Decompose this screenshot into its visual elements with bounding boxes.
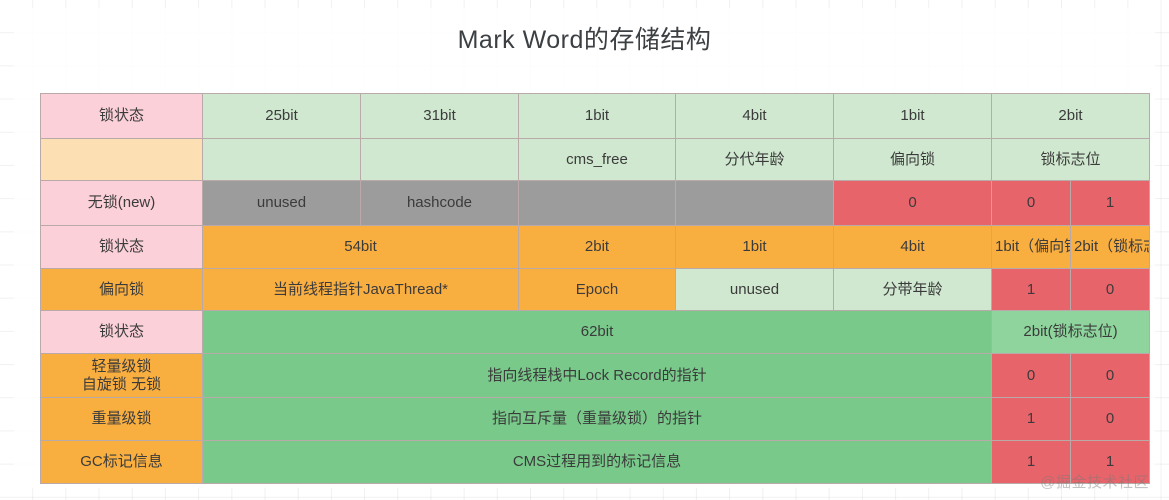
cell-lock-bit-0-3: 0 xyxy=(992,354,1071,398)
cell-lock-bit-0-2: 0 xyxy=(1071,269,1150,311)
cell-2bit-flag-62: 2bit(锁标志位) xyxy=(992,311,1150,354)
row-label-nolock-new: 无锁(new) xyxy=(41,181,203,226)
cell-1bit-bias: 1bit xyxy=(834,94,992,139)
cell-unused-name xyxy=(203,139,361,181)
row-label-lightweight-line1: 轻量级锁 xyxy=(44,358,199,376)
cell-lock-bit-1-5: 1 xyxy=(1071,441,1150,484)
cell-lock-bit-1-3: 0 xyxy=(1071,354,1150,398)
cell-lock-bit-1: 1 xyxy=(1071,181,1150,226)
cell-cms-free: cms_free xyxy=(519,139,676,181)
cell-4bit-age: 4bit xyxy=(834,226,992,269)
cell-unused: unused xyxy=(203,181,361,226)
cell-biased-lock-name: 偏向锁 xyxy=(834,139,992,181)
cell-blank-2 xyxy=(676,181,834,226)
row-label-gc-mark: GC标记信息 xyxy=(41,441,203,484)
cell-lock-bit-0-4: 1 xyxy=(992,398,1071,441)
cell-hashcode-name xyxy=(361,139,519,181)
table-row: 锁状态 62bit 2bit(锁标志位) xyxy=(41,311,1150,354)
table-row: 无锁(new) unused hashcode 0 0 1 xyxy=(41,181,1150,226)
cell-62bit: 62bit xyxy=(203,311,992,354)
cell-generation-age: 分代年龄 xyxy=(676,139,834,181)
row-label-heavyweight-lock: 重量级锁 xyxy=(41,398,203,441)
row-label-empty xyxy=(41,139,203,181)
row-label-lock-state-62: 锁状态 xyxy=(41,311,203,354)
cell-lock-bit-1-4: 0 xyxy=(1071,398,1150,441)
cell-lock-bit-0-5: 1 xyxy=(992,441,1071,484)
cell-cms-mark-info: CMS过程用到的标记信息 xyxy=(203,441,992,484)
cell-31bit: 31bit xyxy=(361,94,519,139)
cell-bias-flag-2: 1 xyxy=(992,269,1071,311)
row-label-lock-state: 锁状态 xyxy=(41,94,203,139)
cell-javathread-pointer: 当前线程指针JavaThread* xyxy=(203,269,519,311)
cell-unused-2: unused xyxy=(676,269,834,311)
cell-1bit: 1bit xyxy=(519,94,676,139)
cell-bias-flag: 0 xyxy=(834,181,992,226)
table-row: 重量级锁 指向互斥量（重量级锁）的指针 1 0 xyxy=(41,398,1150,441)
table-row: 偏向锁 当前线程指针JavaThread* Epoch unused 分带年龄 … xyxy=(41,269,1150,311)
table-row: GC标记信息 CMS过程用到的标记信息 1 1 xyxy=(41,441,1150,484)
cell-generation-age-2: 分带年龄 xyxy=(834,269,992,311)
cell-epoch: Epoch xyxy=(519,269,676,311)
row-label-biased-lock: 偏向锁 xyxy=(41,269,203,311)
page-title: Mark Word的存储结构 xyxy=(0,20,1169,56)
cell-1bit-bias-label: 1bit（偏向锁位） xyxy=(992,226,1071,269)
cell-lock-flag-name: 锁标志位 xyxy=(992,139,1150,181)
row-label-lightweight-line2: 自旋锁 无锁 xyxy=(44,376,199,394)
cell-2bit-flag: 2bit xyxy=(992,94,1150,139)
mark-word-table: 锁状态 25bit 31bit 1bit 4bit 1bit 2bit cms_… xyxy=(40,93,1150,484)
row-label-lightweight-lock: 轻量级锁 自旋锁 无锁 xyxy=(41,354,203,398)
cell-1bit-unused: 1bit xyxy=(676,226,834,269)
table-row: 锁状态 25bit 31bit 1bit 4bit 1bit 2bit xyxy=(41,94,1150,139)
cell-2bit-flag-label: 2bit（锁标志位） xyxy=(1071,226,1150,269)
cell-lock-bit-0: 0 xyxy=(992,181,1071,226)
cell-hashcode: hashcode xyxy=(361,181,519,226)
mark-word-table-container: 锁状态 25bit 31bit 1bit 4bit 1bit 2bit cms_… xyxy=(40,93,1149,484)
cell-mutex-pointer: 指向互斥量（重量级锁）的指针 xyxy=(203,398,992,441)
cell-2bit-epoch: 2bit xyxy=(519,226,676,269)
table-row: 轻量级锁 自旋锁 无锁 指向线程栈中Lock Record的指针 0 0 xyxy=(41,354,1150,398)
cell-25bit: 25bit xyxy=(203,94,361,139)
cell-lock-record-pointer: 指向线程栈中Lock Record的指针 xyxy=(203,354,992,398)
cell-54bit: 54bit xyxy=(203,226,519,269)
table-row: 锁状态 54bit 2bit 1bit 4bit 1bit（偏向锁位） 2bit… xyxy=(41,226,1150,269)
row-label-lock-state-64: 锁状态 xyxy=(41,226,203,269)
table-row: cms_free 分代年龄 偏向锁 锁标志位 xyxy=(41,139,1150,181)
cell-4bit: 4bit xyxy=(676,94,834,139)
cell-blank-1 xyxy=(519,181,676,226)
